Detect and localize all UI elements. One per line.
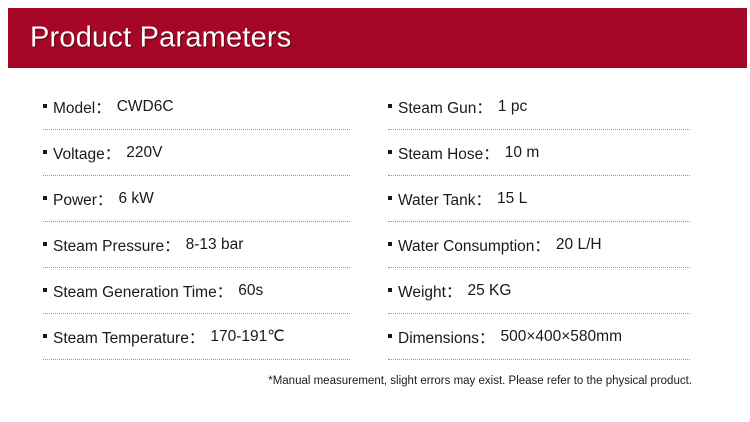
product-parameters-card: Product Parameters Model： CWD6C Voltage：…	[0, 0, 750, 422]
spec-value: 6 kW	[118, 190, 153, 208]
bullet-icon	[388, 334, 392, 338]
spec-label: Dimensions：	[398, 326, 494, 348]
spec-label: Steam Pressure：	[53, 234, 180, 256]
spec-label: Model：	[53, 96, 111, 118]
bullet-icon	[388, 288, 392, 292]
spec-value: 500×400×580mm	[500, 328, 622, 346]
spec-value: 60s	[238, 282, 263, 300]
spec-label: Steam Temperature：	[53, 326, 204, 348]
spec-row: Model： CWD6C	[43, 84, 350, 130]
spec-value: 20 L/H	[556, 236, 602, 254]
spec-label: Steam Gun：	[398, 96, 492, 118]
spec-row: Steam Gun： 1 pc	[388, 84, 690, 130]
spec-row: Power： 6 kW	[43, 176, 350, 222]
spec-row: Water Consumption： 20 L/H	[388, 222, 690, 268]
spec-value: 25 KG	[467, 282, 511, 300]
spec-label: Weight：	[398, 280, 461, 302]
bullet-icon	[43, 196, 47, 200]
spec-row: Steam Pressure： 8-13 bar	[43, 222, 350, 268]
bullet-icon	[43, 104, 47, 108]
bullet-icon	[388, 104, 392, 108]
page-title: Product Parameters	[30, 22, 292, 55]
spec-label: Voltage：	[53, 142, 120, 164]
bullet-icon	[43, 150, 47, 154]
bullet-icon	[388, 242, 392, 246]
spec-value: 220V	[126, 144, 162, 162]
spec-label: Water Tank：	[398, 188, 491, 210]
spec-column-left: Model： CWD6C Voltage： 220V Power： 6 kW S…	[0, 84, 365, 360]
spec-value: 8-13 bar	[186, 236, 244, 254]
spec-label: Power：	[53, 188, 112, 210]
spec-row: Voltage： 220V	[43, 130, 350, 176]
spec-row: Steam Hose： 10 m	[388, 130, 690, 176]
spec-value: 1 pc	[498, 98, 527, 116]
spec-value: 170-191℃	[210, 327, 284, 346]
spec-row: Weight： 25 KG	[388, 268, 690, 314]
bullet-icon	[43, 288, 47, 292]
spec-row: Steam Temperature： 170-191℃	[43, 314, 350, 360]
spec-label: Steam Generation Time：	[53, 280, 232, 302]
spec-value: 10 m	[505, 144, 539, 162]
spec-column-right: Steam Gun： 1 pc Steam Hose： 10 m Water T…	[365, 84, 750, 360]
bullet-icon	[388, 196, 392, 200]
spec-table: Model： CWD6C Voltage： 220V Power： 6 kW S…	[0, 84, 750, 360]
bullet-icon	[43, 334, 47, 338]
bullet-icon	[388, 150, 392, 154]
spec-value: CWD6C	[117, 98, 174, 116]
spec-label: Water Consumption：	[398, 234, 550, 256]
header-banner: Product Parameters	[8, 8, 747, 68]
spec-label: Steam Hose：	[398, 142, 499, 164]
bullet-icon	[43, 242, 47, 246]
spec-row: Dimensions： 500×400×580mm	[388, 314, 690, 360]
spec-row: Water Tank： 15 L	[388, 176, 690, 222]
footnote-text: *Manual measurement, slight errors may e…	[0, 375, 750, 387]
spec-value: 15 L	[497, 190, 527, 208]
spec-row: Steam Generation Time： 60s	[43, 268, 350, 314]
